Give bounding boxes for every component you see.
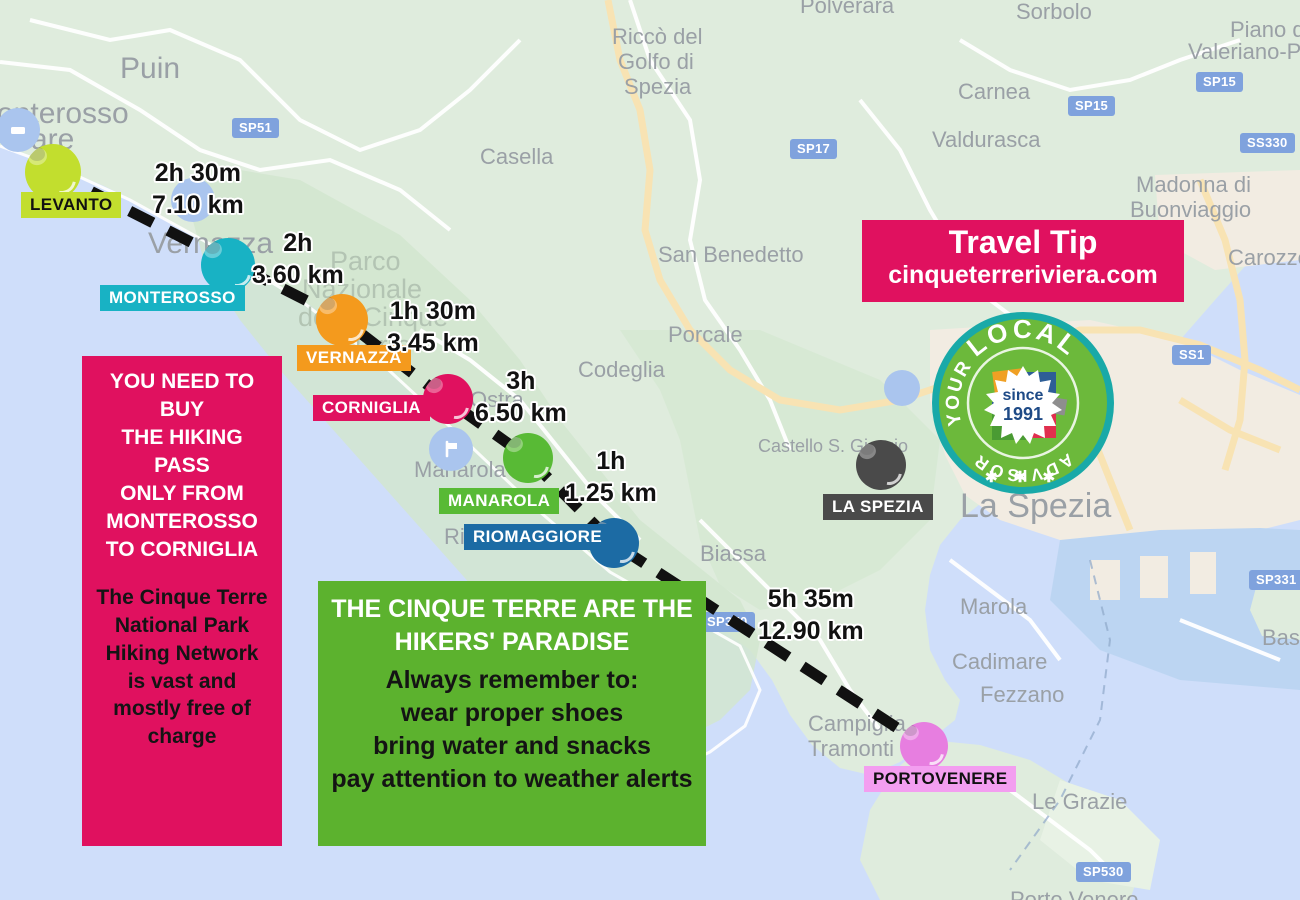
route-leg-vernazza-corniglia: 1h 30m3.45 km xyxy=(387,296,479,359)
your-local-advisor-logo: LOCAL ADVISOR since 1991 ✱ ✱ ✱ YOUR xyxy=(930,310,1116,496)
leg-duration: 3h xyxy=(475,366,567,398)
map-place-label: Porcale xyxy=(668,323,743,347)
map-place-label: Valdurasca xyxy=(932,128,1040,152)
map-place-label: Madonna di xyxy=(1136,173,1251,197)
map-place-label: Campiglia xyxy=(808,712,906,736)
leg-distance: 1.25 km xyxy=(565,478,657,510)
poi-manarola-flag-icon xyxy=(429,427,473,471)
map-place-label: Codeglia xyxy=(578,358,665,382)
road-shield: SP370 xyxy=(700,612,755,632)
town-chip-corniglia[interactable]: CORNIGLIA xyxy=(313,395,430,421)
town-chip-manarola[interactable]: MANAROLA xyxy=(439,488,559,514)
map-place-label: Buonviaggio xyxy=(1130,198,1251,222)
road-shield: SP17 xyxy=(790,139,837,159)
map-place-label: Porto Venere xyxy=(1010,888,1138,900)
route-leg-manarola-riomaggiore: 1h1.25 km xyxy=(565,446,657,509)
road-shield: SS1 xyxy=(1172,345,1211,365)
town-chip-levanto[interactable]: LEVANTO xyxy=(21,192,121,218)
town-marker-manarola[interactable] xyxy=(503,433,553,483)
map-place-label: Valeriano-Pian xyxy=(1188,40,1300,64)
leg-duration: 2h xyxy=(252,228,344,260)
poi-la-spezia-icon xyxy=(884,370,920,406)
map-place-label: Fezzano xyxy=(980,683,1064,707)
road-shield: SP51 xyxy=(232,118,279,138)
map-place-label: Carnea xyxy=(958,80,1030,104)
hikers-paradise-panel: THE CINQUE TERRE ARE THE HIKERS' PARADIS… xyxy=(318,581,706,846)
travel-tip-badge: Travel Tip cinqueterreriviera.com xyxy=(862,220,1184,302)
logo-since-year: 1991 xyxy=(1003,404,1043,424)
road-shield: SP530 xyxy=(1076,862,1131,882)
map-place-label: Riccò del xyxy=(612,25,702,49)
map-place-label: San Benedetto xyxy=(658,243,804,267)
town-chip-portovenere[interactable]: PORTOVENERE xyxy=(864,766,1016,792)
map-place-label: Sorbolo xyxy=(1016,0,1092,24)
road-shield: SP15 xyxy=(1196,72,1243,92)
leg-duration: 2h 30m xyxy=(152,158,244,190)
route-leg-corniglia-manarola: 3h6.50 km xyxy=(475,366,567,429)
town-marker-monterosso[interactable] xyxy=(201,238,255,292)
town-marker-portovenere[interactable] xyxy=(900,722,948,770)
map-place-label: Biassa xyxy=(700,542,766,566)
town-chip-laspezia[interactable]: LA SPEZIA xyxy=(823,494,933,520)
map-place-label: Le Grazie xyxy=(1032,790,1127,814)
map-place-label: Bastia xyxy=(1262,626,1300,650)
map-place-label: Marola xyxy=(960,595,1027,619)
leg-distance: 7.10 km xyxy=(152,190,244,222)
pier-3 xyxy=(1190,552,1216,594)
hiking-pass-heading: YOU NEED TO BUYTHE HIKING PASSONLY FROMM… xyxy=(92,368,272,563)
town-chip-riomaggiore[interactable]: RIOMAGGIORE xyxy=(464,524,611,550)
leg-distance: 6.50 km xyxy=(475,398,567,430)
logo-since-label: since xyxy=(1003,387,1044,404)
leg-distance: 12.90 km xyxy=(758,616,864,648)
map-place-label: Cadimare xyxy=(952,650,1047,674)
leg-duration: 5h 35m xyxy=(758,584,864,616)
pier-2 xyxy=(1140,556,1168,598)
leg-distance: 3.45 km xyxy=(387,328,479,360)
hikers-paradise-heading: THE CINQUE TERRE ARE THE HIKERS' PARADIS… xyxy=(328,593,696,660)
infographic-map: SP51SP17SP15SP15SS330SS1SP331SP530SP370 … xyxy=(0,0,1300,900)
travel-tip-title: Travel Tip xyxy=(862,225,1184,261)
route-leg-riomaggiore-portovenere: 5h 35m12.90 km xyxy=(758,584,864,647)
route-leg-monterosso-vernazza: 2h3.60 km xyxy=(252,228,344,291)
hikers-paradise-body: Always remember to:wear proper shoesbrin… xyxy=(328,664,696,796)
map-place-label: Carozzo xyxy=(1228,246,1300,270)
town-marker-corniglia[interactable] xyxy=(423,374,473,424)
road-shield: SS330 xyxy=(1240,133,1295,153)
leg-distance: 3.60 km xyxy=(252,260,344,292)
road-shield: SP15 xyxy=(1068,96,1115,116)
route-leg-levanto-monterosso: 2h 30m7.10 km xyxy=(152,158,244,221)
town-marker-vernazza[interactable] xyxy=(316,294,368,346)
logo-stars: ✱ ✱ ✱ xyxy=(985,469,1061,486)
hiking-pass-body: The Cinque Terre National ParkHiking Net… xyxy=(92,584,272,750)
town-marker-laspezia[interactable] xyxy=(856,440,906,490)
hiking-pass-panel: YOU NEED TO BUYTHE HIKING PASSONLY FROMM… xyxy=(82,356,282,846)
map-place-label: Golfo di xyxy=(618,50,694,74)
leg-duration: 1h 30m xyxy=(387,296,479,328)
map-place-label: Tramonti xyxy=(808,737,894,761)
travel-tip-website[interactable]: cinqueterreriviera.com xyxy=(862,262,1184,290)
map-place-label: Polverara xyxy=(800,0,894,18)
map-place-label: Casella xyxy=(480,145,553,169)
map-place-label: Spezia xyxy=(624,75,691,99)
road-shield: SP331 xyxy=(1249,570,1300,590)
town-chip-monterosso[interactable]: MONTEROSSO xyxy=(100,285,245,311)
leg-duration: 1h xyxy=(565,446,657,478)
map-place-label: Puin xyxy=(120,53,180,85)
